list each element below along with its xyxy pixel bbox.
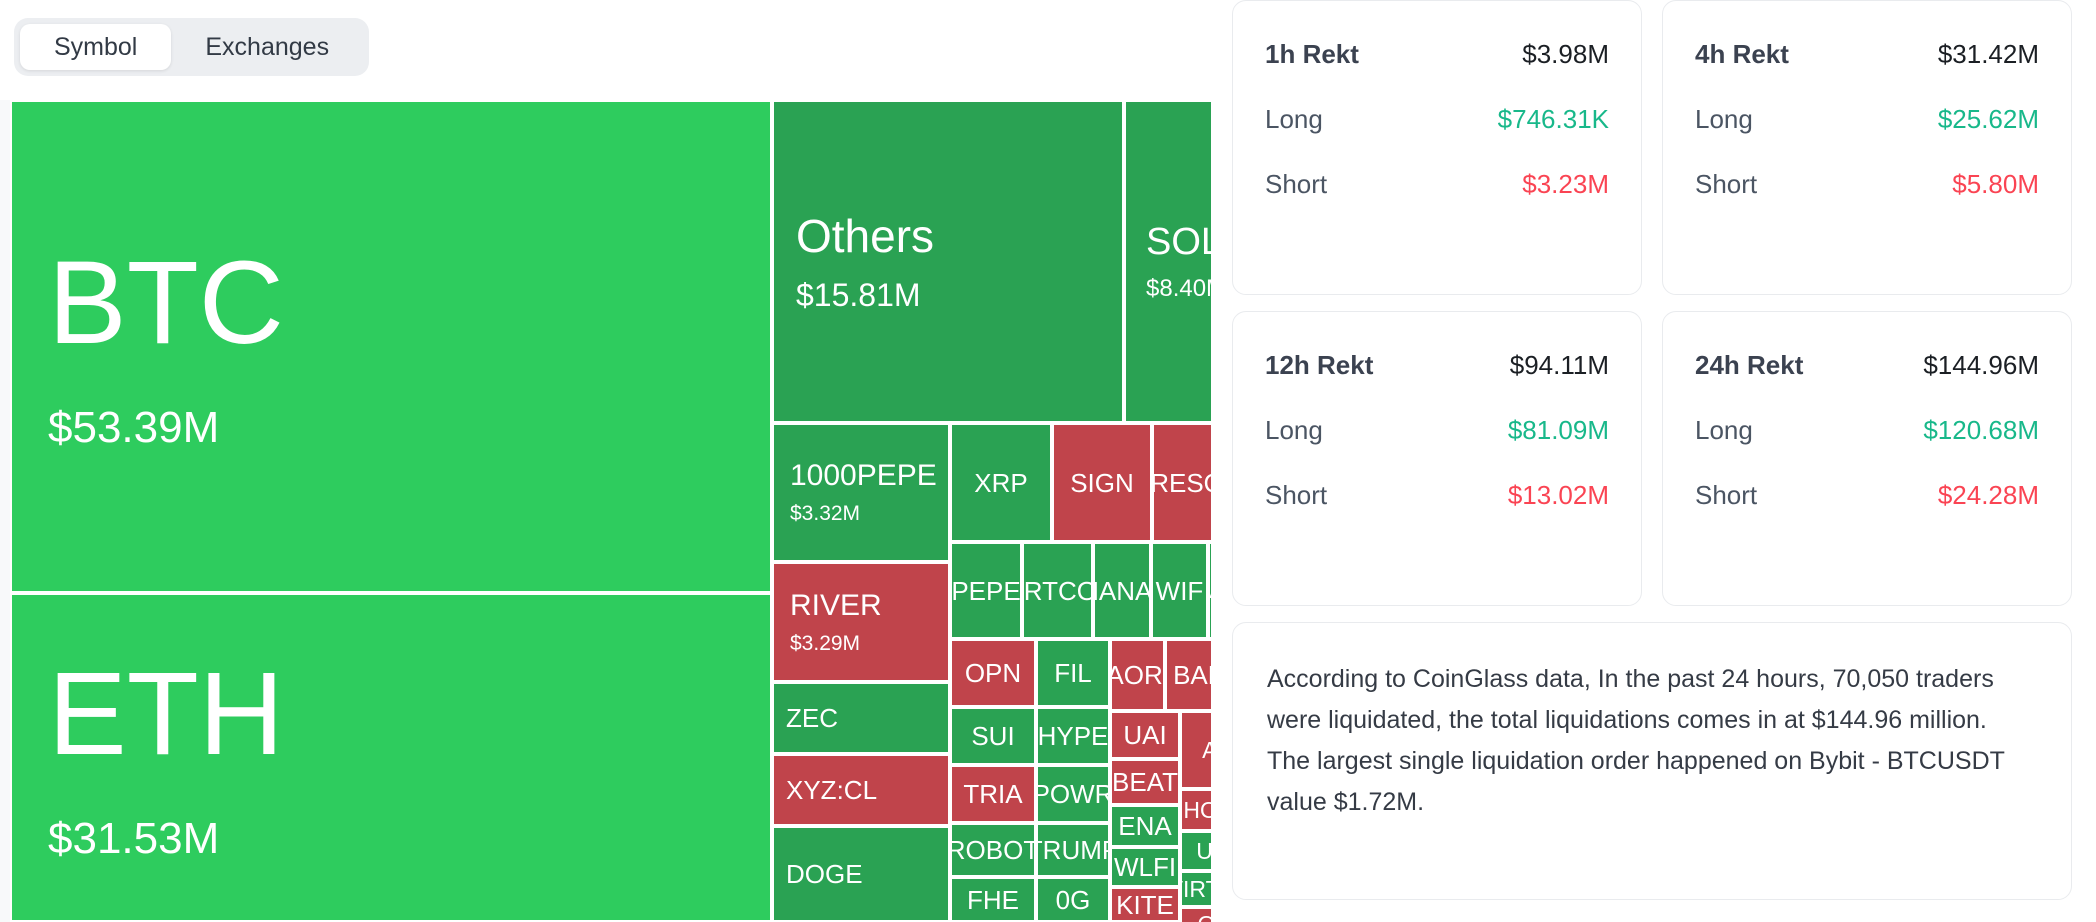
treemap-cell-value: $3.32M: [790, 503, 932, 524]
treemap-cell-kite[interactable]: KITE$0.45M: [1110, 887, 1180, 922]
treemap-cell-value: $3.29M: [790, 633, 932, 654]
treemap-cell-symbol: HYPE: [1038, 723, 1109, 749]
treemap-cell-symbol: FHE: [967, 887, 1019, 913]
treemap-cell-symbol: WIF: [1156, 578, 1204, 604]
treemap-cell-1000pepe[interactable]: 1000PEPE$3.32M: [772, 423, 950, 562]
summary-line-1: According to CoinGlass data, In the past…: [1267, 659, 2037, 741]
liquidation-treemap-panel: BTC$53.39METH$31.53MOthers$15.81MSOL$8.4…: [0, 100, 1211, 922]
rekt-long-row: Long $746.31K: [1265, 104, 1609, 135]
liquidation-treemap: BTC$53.39METH$31.53MOthers$15.81MSOL$8.4…: [0, 100, 1211, 922]
treemap-cell-om[interactable]: OM$0.43M: [1180, 907, 1211, 922]
rekt-long-label: Long: [1265, 104, 1323, 135]
treemap-cell-fhe[interactable]: FHE$0.48M: [950, 877, 1036, 922]
treemap-cell-uni[interactable]: UNI$0.57M: [1180, 831, 1211, 871]
treemap-cell-symbol: TRUMP: [1036, 837, 1110, 863]
treemap-cell-symbol: 1000PEPE: [790, 461, 932, 491]
tab-symbol[interactable]: Symbol: [20, 24, 171, 70]
treemap-cell-symbol: POWR: [1036, 781, 1110, 807]
treemap-cell-symbol: HOLO: [1183, 799, 1211, 822]
treemap-cell-0g[interactable]: 0G$0.47M: [1036, 877, 1110, 922]
treemap-cell-value: $8.40M: [1146, 277, 1211, 301]
treemap-cell-tria[interactable]: TRIA$0.70M: [950, 765, 1036, 823]
treemap-cell-symbol: FARTCOIN: [1022, 578, 1093, 604]
rekt-card-24h[interactable]: 24h Rekt $144.96M Long $120.68M Short $2…: [1662, 311, 2072, 606]
treemap-cell-opn[interactable]: OPN$0.98M: [950, 639, 1036, 707]
treemap-cell-value: $31.53M: [48, 817, 734, 861]
treemap-cell-value: $15.81M: [796, 279, 1100, 311]
treemap-cell-holo[interactable]: HOLO$0.62M: [1180, 789, 1211, 831]
rekt-short-label: Short: [1265, 169, 1327, 200]
rekt-short-value: $24.28M: [1938, 480, 2039, 511]
treemap-cell-xrp[interactable]: XRP$1.71M: [950, 423, 1052, 542]
treemap-cell-bananas31[interactable]: BANANAS31$1.20M: [1093, 542, 1151, 639]
rekt-long-value: $746.31K: [1498, 104, 1609, 135]
rekt-short-row: Short $3.23M: [1265, 169, 1609, 200]
treemap-cell-ena[interactable]: ENA$0.60M: [1110, 805, 1180, 847]
treemap-cell-symbol: FIL: [1054, 660, 1092, 686]
treemap-cell-uai[interactable]: UAI$0.76M: [1110, 711, 1180, 759]
rekt-short-row: Short $5.80M: [1695, 169, 2039, 200]
treemap-cell-hype[interactable]: HYPE$0.80M: [1036, 707, 1110, 765]
rekt-total-row: 24h Rekt $144.96M: [1695, 350, 2039, 381]
treemap-cell-symbol: XRP: [974, 470, 1027, 496]
treemap-cell-symbol: WLD: [1208, 579, 1211, 602]
rekt-total-row: 1h Rekt $3.98M: [1265, 39, 1609, 70]
treemap-cell-symbol: SOL: [1146, 223, 1211, 261]
treemap-cell-symbol: ETH: [48, 655, 734, 773]
rekt-short-value: $5.80M: [1952, 169, 2039, 200]
rekt-card-title: 24h Rekt: [1695, 350, 1803, 381]
treemap-cell-symbol: OPN: [965, 660, 1021, 686]
treemap-cell-beat[interactable]: BEAT$0.66M: [1110, 759, 1180, 805]
treemap-cell-fartcoin[interactable]: FARTCOIN$1.27M: [1022, 542, 1093, 639]
tab-symbol-label: Symbol: [54, 33, 137, 62]
treemap-cell-pepe[interactable]: PEPE$1.31M: [950, 542, 1022, 639]
treemap-cell-fil[interactable]: FIL$0.94M: [1036, 639, 1110, 707]
treemap-cell-symbol: SIGN: [1070, 470, 1134, 496]
rekt-short-label: Short: [1265, 480, 1327, 511]
rekt-short-label: Short: [1695, 480, 1757, 511]
treemap-cell-symbol: VIRTUAL: [1180, 878, 1211, 901]
treemap-cell-symbol: UAI: [1123, 722, 1166, 748]
treemap-cell-symbol: RESOLV: [1152, 470, 1211, 496]
treemap-cell-symbol: BANK: [1173, 662, 1211, 688]
treemap-cell-btc[interactable]: BTC$53.39M: [10, 100, 772, 593]
treemap-cell-symbol: 0G: [1056, 887, 1091, 913]
treemap-cell-sign[interactable]: SIGN$1.65M: [1052, 423, 1152, 542]
treemap-cell-zec[interactable]: ZEC$2.10M: [772, 682, 950, 754]
treemap-cell-symbol: ROBOT: [950, 837, 1036, 863]
summary-line-2: The largest single liquidation order hap…: [1267, 741, 2037, 823]
treemap-cell-symbol: PEPE: [951, 578, 1020, 604]
rekt-card-total: $31.42M: [1938, 39, 2039, 70]
treemap-cell-sui[interactable]: SUI$0.82M: [950, 707, 1036, 765]
rekt-total-row: 12h Rekt $94.11M: [1265, 350, 1609, 381]
rekt-long-value: $25.62M: [1938, 104, 2039, 135]
treemap-cell-symbol: Others: [796, 213, 1100, 259]
rekt-card-title: 12h Rekt: [1265, 350, 1373, 381]
treemap-cell-others[interactable]: Others$15.81M: [772, 100, 1124, 423]
rekt-card-title: 1h Rekt: [1265, 39, 1359, 70]
treemap-cell-river[interactable]: RIVER$3.29M: [772, 562, 950, 682]
rekt-long-value: $81.09M: [1508, 415, 1609, 446]
treemap-cell-virtual[interactable]: VIRTUAL$0.50M: [1180, 871, 1211, 907]
treemap-cell-symbol: BTC: [48, 244, 734, 362]
treemap-cell-xyz-cl[interactable]: XYZ:CL$1.92M: [772, 754, 950, 826]
treemap-cell-symbol: NAORIS: [1110, 662, 1165, 688]
treemap-cell-symbol: BANANAS31: [1093, 578, 1151, 604]
treemap-cell-at[interactable]: AT$0.74M: [1180, 711, 1211, 789]
rekt-card-12h[interactable]: 12h Rekt $94.11M Long $81.09M Short $13.…: [1232, 311, 1642, 606]
rekt-long-value: $120.68M: [1923, 415, 2039, 446]
rekt-card-total: $3.98M: [1522, 39, 1609, 70]
treemap-cell-robot[interactable]: ROBOT$0.55M: [950, 823, 1036, 877]
rekt-card-title: 4h Rekt: [1695, 39, 1789, 70]
treemap-cell-bank[interactable]: BANK$0.86M: [1165, 639, 1211, 711]
tab-exchanges[interactable]: Exchanges: [171, 24, 363, 70]
treemap-cell-symbol: DOGE: [786, 861, 863, 887]
treemap-cell-symbol: KITE: [1116, 892, 1174, 918]
treemap-cell-sol[interactable]: SOL$8.40M: [1124, 100, 1211, 423]
treemap-cell-wlfi[interactable]: WLFI$0.52M: [1110, 847, 1180, 887]
rekt-card-total: $144.96M: [1923, 350, 2039, 381]
treemap-cell-trump[interactable]: TRUMP$0.54M: [1036, 823, 1110, 877]
treemap-cell-symbol: AT: [1202, 739, 1211, 762]
treemap-cell-resolv[interactable]: RESOLV$1.58M: [1152, 423, 1211, 542]
treemap-cell-symbol: TRIA: [963, 781, 1022, 807]
treemap-cell-doge[interactable]: DOGE$1.80M: [772, 826, 950, 922]
treemap-cell-symbol: ENA: [1118, 813, 1171, 839]
rekt-long-label: Long: [1695, 104, 1753, 135]
treemap-cell-symbol: UNI: [1196, 840, 1211, 863]
rekt-short-value: $13.02M: [1508, 480, 1609, 511]
treemap-cell-symbol: OM: [1197, 913, 1211, 922]
rekt-long-row: Long $120.68M: [1695, 415, 2039, 446]
view-mode-tabs: Symbol Exchanges: [14, 18, 369, 76]
rekt-stats-panel: 1h Rekt $3.98M Long $746.31K Short $3.23…: [1232, 0, 2096, 922]
treemap-cell-wif[interactable]: WIF$1.14M: [1151, 542, 1208, 639]
rekt-short-value: $3.23M: [1522, 169, 1609, 200]
treemap-cell-symbol: XYZ:CL: [786, 777, 877, 803]
treemap-cell-value: $53.39M: [48, 406, 734, 450]
rekt-short-label: Short: [1695, 169, 1757, 200]
treemap-cell-powr[interactable]: POWR$0.68M: [1036, 765, 1110, 823]
liquidation-summary-card: According to CoinGlass data, In the past…: [1232, 622, 2072, 900]
treemap-cell-symbol: RIVER: [790, 591, 932, 621]
rekt-long-row: Long $81.09M: [1265, 415, 1609, 446]
treemap-cell-naoris[interactable]: NAORIS$0.90M: [1110, 639, 1165, 711]
rekt-long-label: Long: [1265, 415, 1323, 446]
treemap-cell-symbol: BEAT: [1112, 769, 1178, 795]
rekt-short-row: Short $24.28M: [1695, 480, 2039, 511]
rekt-long-row: Long $25.62M: [1695, 104, 2039, 135]
treemap-cell-symbol: ZEC: [786, 705, 838, 731]
rekt-card-4h[interactable]: 4h Rekt $31.42M Long $25.62M Short $5.80…: [1662, 0, 2072, 295]
rekt-card-total: $94.11M: [1510, 350, 1609, 381]
rekt-long-label: Long: [1695, 415, 1753, 446]
rekt-total-row: 4h Rekt $31.42M: [1695, 39, 2039, 70]
treemap-cell-symbol: WLFI: [1114, 854, 1176, 880]
rekt-short-row: Short $13.02M: [1265, 480, 1609, 511]
treemap-cell-wld[interactable]: WLD$1.05M: [1208, 542, 1211, 639]
tab-exchanges-label: Exchanges: [205, 33, 329, 62]
rekt-card-1h[interactable]: 1h Rekt $3.98M Long $746.31K Short $3.23…: [1232, 0, 1642, 295]
treemap-cell-symbol: SUI: [971, 723, 1014, 749]
treemap-cell-eth[interactable]: ETH$31.53M: [10, 593, 772, 922]
